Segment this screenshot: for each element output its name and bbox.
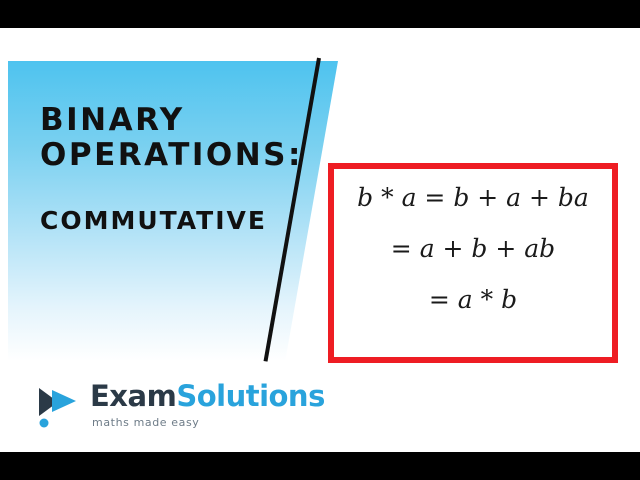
subtitle: COMMUTATIVE bbox=[40, 206, 310, 235]
logo-word-solutions: Solutions bbox=[176, 379, 325, 413]
logo-tagline: maths made easy bbox=[92, 416, 325, 429]
logo-text-wrap: ExamSolutions maths made easy bbox=[90, 380, 325, 429]
examsolutions-logo: ExamSolutions maths made easy bbox=[36, 380, 325, 429]
logo-wordmark: ExamSolutions bbox=[90, 382, 325, 411]
logo-word-exam: Exam bbox=[90, 379, 176, 413]
title-line-2: OPERATIONS: bbox=[40, 138, 310, 173]
equation-box: b * a = b + a + ba = a + b + ab = a * b bbox=[328, 163, 618, 363]
equation-line-2: = a + b + ab bbox=[334, 236, 612, 261]
equation-line-1: b * a = b + a + ba bbox=[334, 185, 612, 210]
equation-lines: b * a = b + a + ba = a + b + ab = a * b bbox=[334, 185, 612, 312]
title-block: BINARY OPERATIONS: COMMUTATIVE bbox=[40, 103, 310, 235]
video-frame: BINARY OPERATIONS: COMMUTATIVE b * a = b… bbox=[0, 0, 640, 480]
slide-card: BINARY OPERATIONS: COMMUTATIVE b * a = b… bbox=[0, 28, 640, 452]
play-triangle-icon bbox=[36, 382, 82, 428]
equation-line-3: = a * b bbox=[334, 287, 612, 312]
title-line-1: BINARY bbox=[40, 103, 310, 138]
